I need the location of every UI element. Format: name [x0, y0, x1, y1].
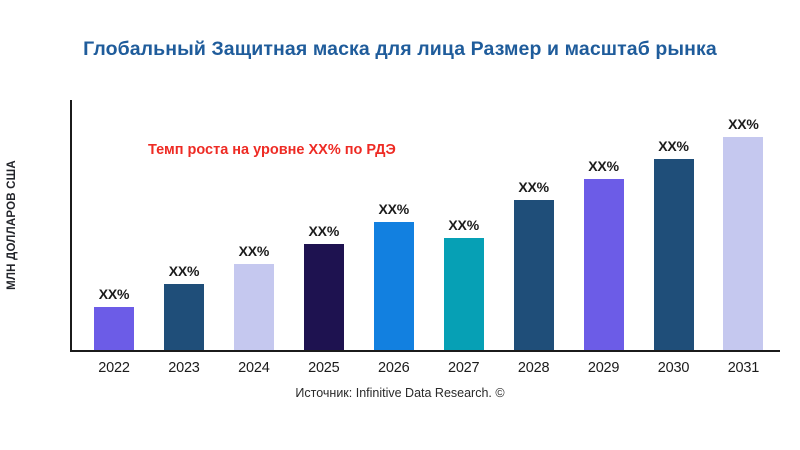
bar-2026[interactable]: XX%: [374, 201, 414, 350]
bar-2029[interactable]: XX%: [584, 158, 624, 351]
bar-rect-2029[interactable]: [584, 179, 624, 351]
bar-rect-2024[interactable]: [234, 264, 274, 350]
bar-rect-2026[interactable]: [374, 222, 414, 350]
y-axis-label: МЛН ДОЛЛАРОВ США: [6, 160, 18, 290]
y-axis-title-container: МЛН ДОЛЛАРОВ США: [0, 95, 24, 355]
bar-value-label-2028: XX%: [518, 179, 549, 195]
x-tick-label-2023: 2023: [154, 360, 214, 376]
x-tick-label-2022: 2022: [84, 360, 144, 376]
bar-value-label-2024: XX%: [239, 243, 270, 259]
x-tick-label-2030: 2030: [644, 360, 704, 376]
x-tick-label-2026: 2026: [364, 360, 424, 376]
plot-area: XX%XX%XX%XX%XX%XX%XX%XX%XX%XX%: [70, 100, 780, 352]
source-note: Источник: Infinitive Data Research. ©: [0, 386, 800, 400]
bar-value-label-2030: XX%: [658, 138, 689, 154]
bar-2023[interactable]: XX%: [164, 263, 204, 350]
x-tick-label-2025: 2025: [294, 360, 354, 376]
x-tick-label-2028: 2028: [504, 360, 564, 376]
x-axis-line: [70, 350, 780, 352]
x-tick-label-2031: 2031: [713, 360, 773, 376]
x-tick-label-2024: 2024: [224, 360, 284, 376]
bar-rect-2022[interactable]: [94, 307, 134, 351]
bar-rect-2028[interactable]: [514, 200, 554, 350]
bar-2027[interactable]: XX%: [444, 217, 484, 350]
x-tick-label-2027: 2027: [434, 360, 494, 376]
bar-2024[interactable]: XX%: [234, 243, 274, 350]
bar-value-label-2025: XX%: [309, 223, 340, 239]
bar-rect-2025[interactable]: [304, 244, 344, 351]
bar-2031[interactable]: XX%: [723, 116, 763, 351]
bar-value-label-2022: XX%: [99, 286, 130, 302]
bar-value-label-2026: XX%: [378, 201, 409, 217]
chart-title: Глобальный Защитная маска для лица Разме…: [0, 38, 800, 61]
bar-2022[interactable]: XX%: [94, 286, 134, 351]
bar-value-label-2031: XX%: [728, 116, 759, 132]
bar-rect-2023[interactable]: [164, 284, 204, 350]
x-tick-label-2029: 2029: [574, 360, 634, 376]
bar-value-label-2029: XX%: [588, 158, 619, 174]
bar-2028[interactable]: XX%: [514, 179, 554, 350]
bar-rect-2031[interactable]: [723, 137, 763, 351]
bar-rect-2027[interactable]: [444, 238, 484, 350]
bar-value-label-2027: XX%: [448, 217, 479, 233]
chart-container: Глобальный Защитная маска для лица Разме…: [0, 0, 800, 450]
bar-2025[interactable]: XX%: [304, 223, 344, 351]
y-axis-line: [70, 100, 72, 352]
bar-2030[interactable]: XX%: [654, 138, 694, 350]
bar-value-label-2023: XX%: [169, 263, 200, 279]
growth-rate-annotation: Темп роста на уровне XX% по РДЭ: [148, 142, 396, 158]
bar-rect-2030[interactable]: [654, 159, 694, 350]
